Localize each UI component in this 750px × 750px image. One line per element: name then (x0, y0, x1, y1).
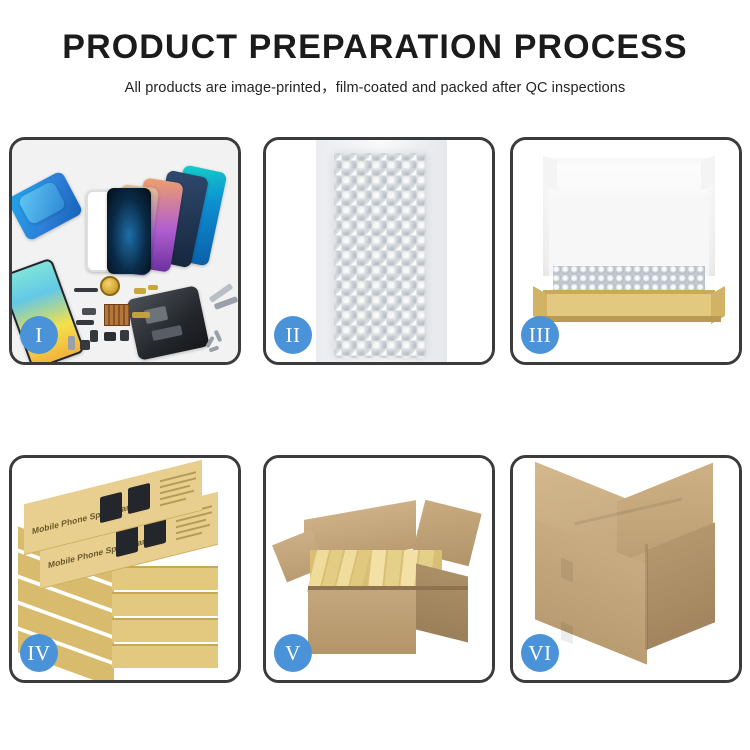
process-step-4: Mobile Phone Spare Parts Mobile Phone Sp… (9, 455, 241, 683)
page-title: PRODUCT PREPARATION PROCESS (0, 26, 750, 68)
process-step-6: VI (510, 455, 742, 683)
step-badge-3: III (521, 316, 559, 354)
product-preparation-process-page: PRODUCT PREPARATION PROCESS All products… (0, 0, 750, 750)
process-step-2: II (263, 137, 495, 365)
step-badge-4: IV (20, 634, 58, 672)
process-step-1: I (9, 137, 241, 365)
process-step-grid: I II (9, 137, 742, 683)
step-badge-2: II (274, 316, 312, 354)
process-step-5: V (263, 455, 495, 683)
process-step-3: III (510, 137, 742, 365)
page-subtitle: All products are image-printed，film-coat… (0, 77, 750, 99)
step-badge-6: VI (521, 634, 559, 672)
header: PRODUCT PREPARATION PROCESS All products… (0, 26, 750, 99)
bubble-wrap-sheet (334, 153, 427, 357)
step-badge-1: I (20, 316, 58, 354)
step-badge-5: V (274, 634, 312, 672)
